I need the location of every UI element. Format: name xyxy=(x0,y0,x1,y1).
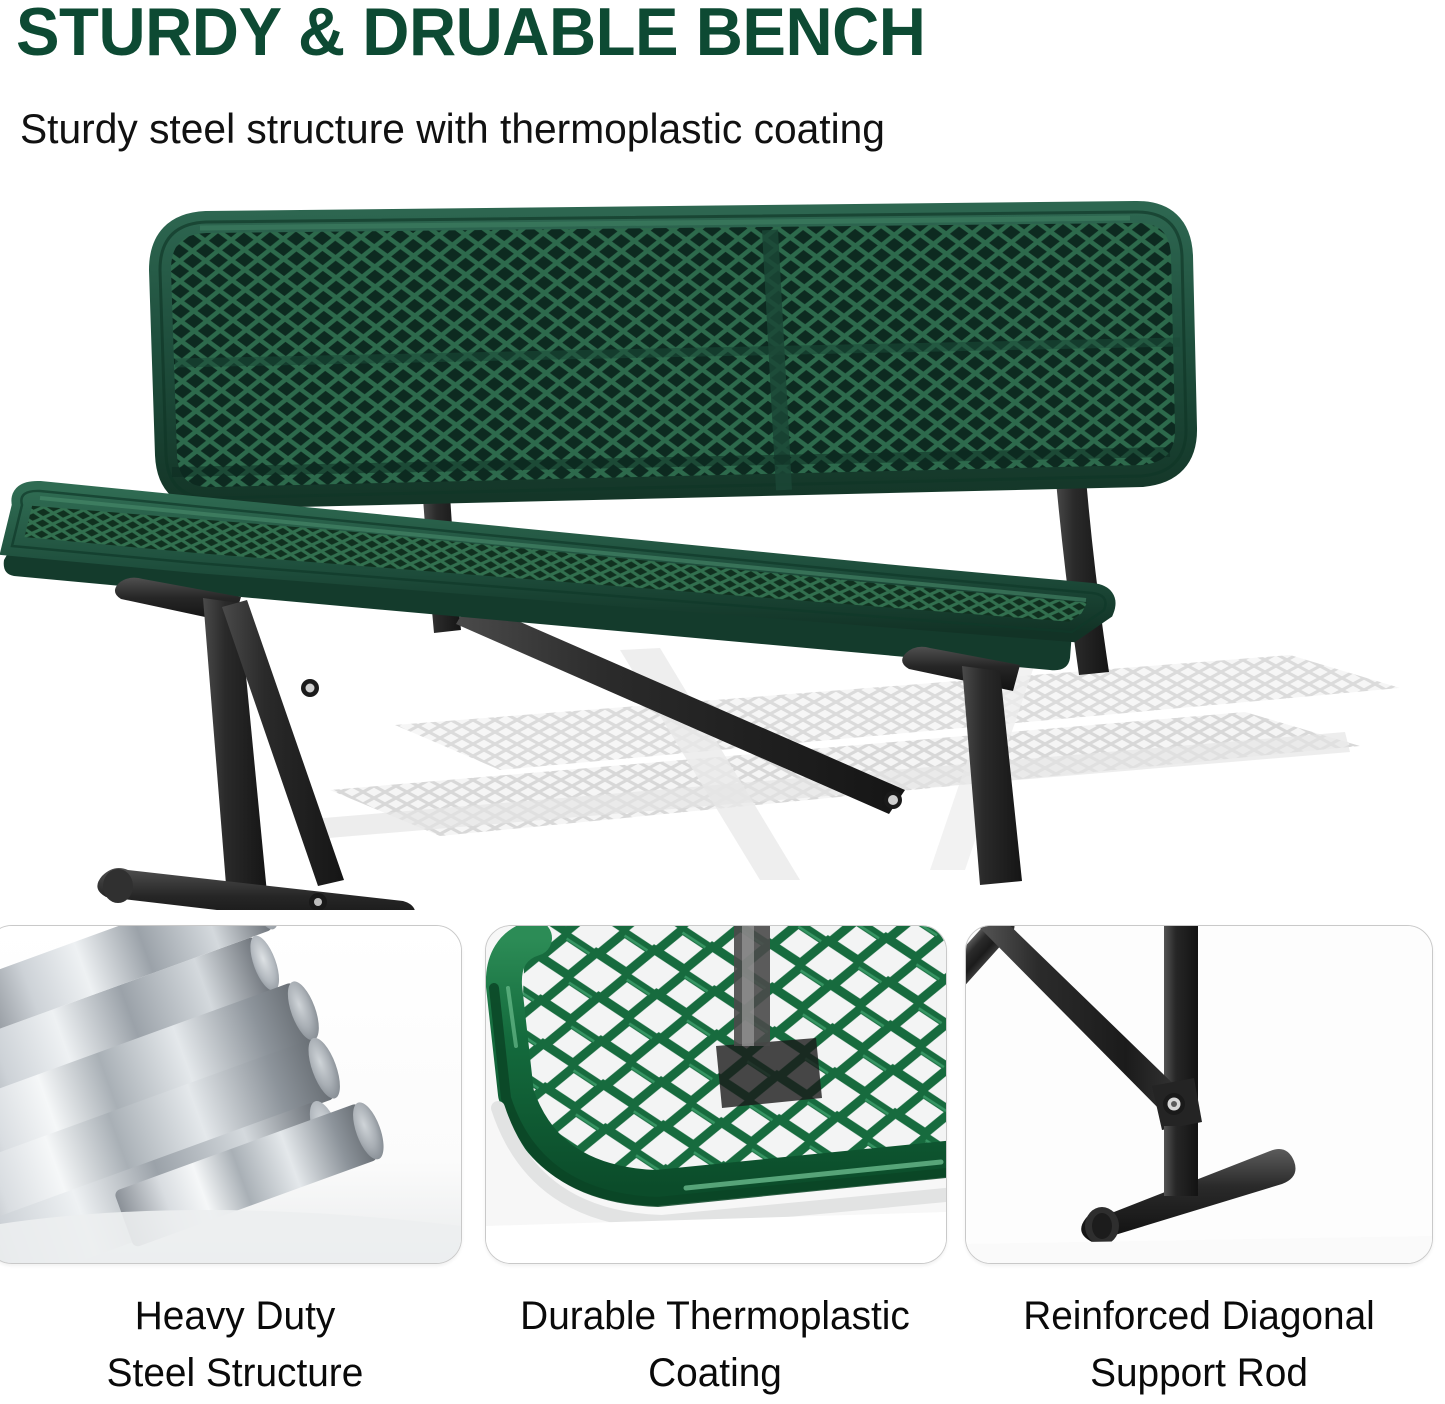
caption-line-2: Coating xyxy=(485,1345,945,1402)
page-title: STURDY & DRUABLE BENCH xyxy=(16,0,925,68)
caption-durable-thermoplastic-coating: Durable Thermoplastic Coating xyxy=(485,1288,945,1402)
caption-line-1: Heavy Duty xyxy=(7,1288,463,1345)
caption-reinforced-diagonal-support-rod: Reinforced Diagonal Support Rod xyxy=(967,1288,1431,1402)
caption-line-2: Support Rod xyxy=(967,1345,1431,1402)
caption-line-2: Steel Structure xyxy=(7,1345,463,1402)
product-infographic-page: STURDY & DRUABLE BENCH Sturdy steel stru… xyxy=(0,0,1445,1404)
caption-row: Heavy Duty Steel Structure Durable Therm… xyxy=(0,1288,1445,1404)
caption-line-1: Reinforced Diagonal xyxy=(967,1288,1431,1345)
panel-support-rod xyxy=(965,925,1433,1264)
hero-bench-image xyxy=(0,180,1445,910)
page-subtitle: Sturdy steel structure with thermoplasti… xyxy=(20,104,885,154)
bench-floor-shadow xyxy=(300,634,1400,880)
panel-mesh-coating xyxy=(485,925,947,1264)
panel-steel-bars xyxy=(0,925,462,1264)
bench-backrest xyxy=(147,193,1214,527)
feature-panel-row xyxy=(0,925,1445,1265)
caption-line-1: Durable Thermoplastic xyxy=(485,1288,945,1345)
caption-heavy-duty-steel-structure: Heavy Duty Steel Structure xyxy=(7,1288,463,1402)
